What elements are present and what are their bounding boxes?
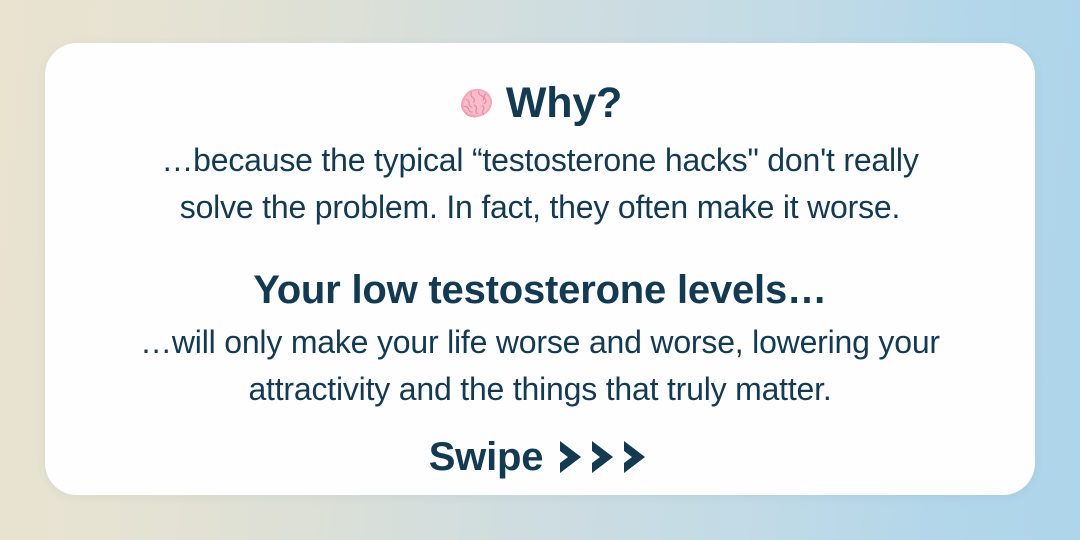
swipe-call-to-action[interactable]: Swipe — [429, 437, 652, 477]
subheading-block: Your low testosterone levels… — [253, 265, 827, 315]
chevron-right-icon — [589, 437, 619, 477]
subheading-text: Your low testosterone levels… — [253, 265, 827, 315]
chevron-right-icon — [621, 437, 651, 477]
paragraph-2: …will only make your life worse and wors… — [90, 319, 990, 413]
paragraph-2-line-2: attractivity and the things that truly m… — [90, 366, 990, 413]
brain-icon — [458, 87, 494, 121]
swipe-label: Swipe — [429, 437, 544, 477]
heading-row: Why? — [458, 75, 622, 131]
social-slide: Why? …because the typical “testosterone … — [0, 0, 1080, 540]
content-card: Why? …because the typical “testosterone … — [45, 43, 1035, 495]
chevron-right-icon — [557, 437, 587, 477]
paragraph-1-line-2: solve the problem. In fact, they often m… — [90, 184, 990, 231]
heading-title: Why? — [506, 82, 622, 125]
paragraph-1-line-1: …because the typical “testosterone hacks… — [90, 137, 990, 184]
chevron-group — [557, 437, 651, 477]
paragraph-2-line-1: …will only make your life worse and wors… — [90, 319, 990, 366]
paragraph-1: …because the typical “testosterone hacks… — [90, 137, 990, 231]
